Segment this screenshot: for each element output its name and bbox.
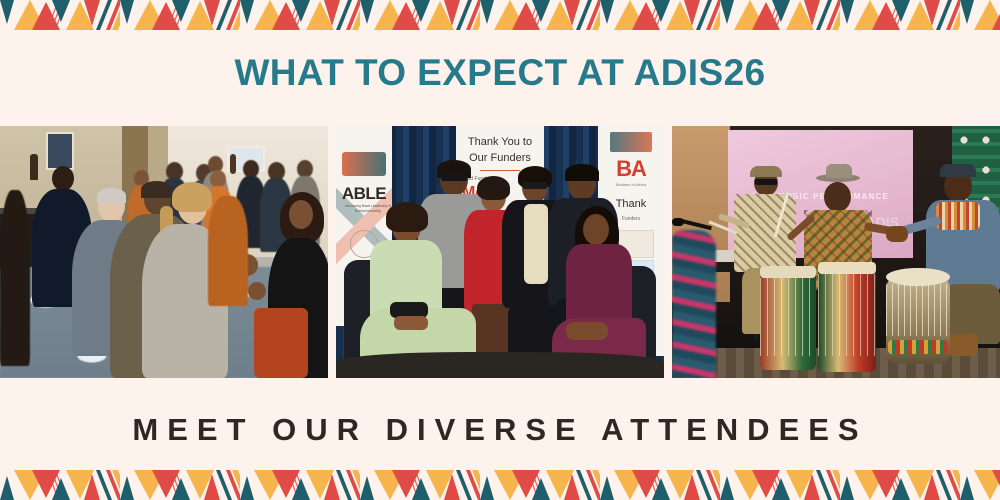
banner-right-logo: BA — [598, 156, 664, 182]
cream-blouse — [524, 204, 548, 284]
panelist-face — [583, 214, 609, 245]
embroidered-collar — [936, 202, 980, 230]
photo-panel-group: ABLE Advancing Black Leadership & Entrep… — [336, 126, 664, 378]
foreground-spectator — [672, 230, 716, 378]
flat-cap — [750, 166, 782, 177]
drum-ropes — [818, 274, 876, 356]
triangle-pattern-svg — [0, 0, 1000, 30]
drum-ropes — [886, 284, 950, 336]
attendee-head — [52, 166, 74, 191]
foreground-figure — [0, 190, 30, 366]
photo-gallery-row: ABLE Advancing Black Leadership & Entrep… — [0, 126, 1000, 378]
djembe-drum — [886, 268, 950, 364]
banner-left-logo: ABLE — [336, 184, 392, 204]
attendee-hair — [141, 181, 172, 198]
photo-live-music: LIVE MUSIC PERFORMANCE ADIS — [672, 126, 1000, 378]
banner-divider — [480, 170, 520, 171]
drummer-hand — [886, 226, 908, 242]
wall-art-1 — [46, 132, 74, 170]
dundun-drum-2 — [818, 262, 876, 372]
poster-canvas: WHAT TO EXPECT AT ADIS26 — [0, 0, 1000, 500]
eyeglasses — [523, 182, 547, 189]
attendee-face — [289, 200, 313, 229]
clasped-hands — [394, 316, 428, 330]
banner-thanks-line1: Thank You to — [456, 136, 544, 148]
foreground-sofa — [336, 352, 664, 378]
eyeglasses — [441, 174, 467, 181]
page-title: WHAT TO EXPECT AT ADIS26 — [0, 52, 1000, 94]
attendee-hair — [97, 188, 126, 203]
attendee-hand — [248, 282, 266, 300]
wine-bottle-1 — [30, 154, 38, 180]
dundun-drum-1 — [760, 266, 816, 370]
top-triangle-border — [0, 0, 1000, 30]
drum-head — [818, 262, 876, 274]
panelist-hair — [565, 164, 599, 181]
shirt-pattern — [734, 194, 796, 272]
photo-networking — [0, 126, 328, 378]
attendee-orange-jacket — [208, 196, 248, 306]
africa-logo-mark — [342, 152, 386, 176]
bottom-triangle-border — [0, 470, 1000, 500]
page-subtitle: MEET OUR DIVERSE ATTENDEES — [0, 412, 1000, 448]
drum-band — [888, 340, 948, 354]
wine-bottle-2 — [230, 154, 236, 174]
adis-logo-mark — [610, 132, 652, 152]
banner-thanks-line2: Our Funders — [456, 152, 544, 164]
fedora-crown — [826, 164, 852, 178]
triangle-pattern-svg-bottom — [0, 470, 1000, 500]
cap — [940, 164, 976, 177]
drummer-head — [824, 182, 851, 212]
clasped-hands — [566, 322, 608, 340]
microphone-head — [672, 218, 684, 226]
banner-right-sub: Builders of Africa — [598, 182, 664, 187]
drum-head — [760, 266, 816, 278]
eyeglasses — [755, 179, 777, 185]
drum-ropes — [760, 278, 816, 356]
panelist-hair — [386, 202, 428, 232]
panelist-hair — [477, 176, 510, 200]
attendee-hair — [172, 182, 212, 212]
attendee-skirt — [254, 308, 308, 378]
